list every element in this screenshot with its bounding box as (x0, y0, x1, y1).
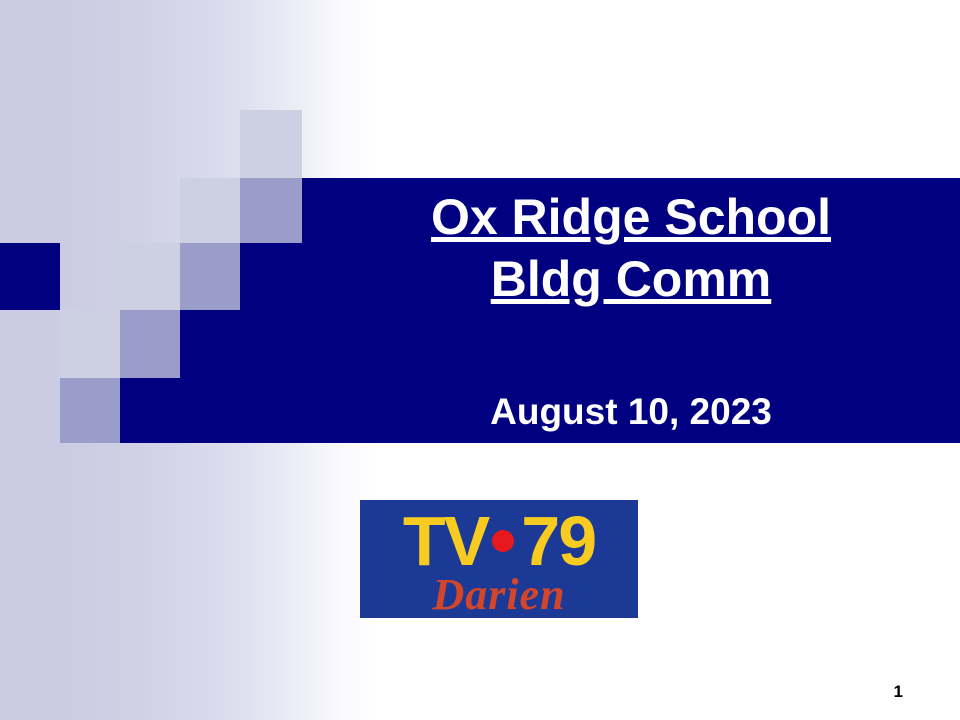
logo-top-row: TV 79 (360, 503, 638, 579)
mosaic-block-light-r4c1 (60, 310, 120, 378)
tv79-darien-logo: TV 79 Darien (360, 500, 638, 618)
logo-text-tv: TV (403, 506, 488, 576)
mosaic-block-mid-r2c2 (240, 178, 302, 243)
banner-segment-lower-mid (180, 310, 960, 378)
mosaic-block-light-r1c1 (240, 110, 302, 178)
title-line-1: Ox Ridge School (302, 186, 960, 248)
mosaic-block-light-r2c1 (180, 178, 240, 243)
slide-canvas: Ox Ridge School Bldg Comm August 10, 202… (0, 0, 960, 720)
logo-text-79: 79 (521, 506, 595, 576)
mosaic-block-navy-r3c0 (0, 243, 60, 310)
red-dot-icon (492, 530, 514, 552)
logo-text-town: Darien (360, 572, 638, 618)
mosaic-block-mid-r3c2 (180, 243, 240, 310)
mosaic-block-mid-r5c1 (60, 378, 120, 443)
page-number: 1 (894, 682, 903, 702)
slide-date: August 10, 2023 (302, 390, 960, 434)
slide-title: Ox Ridge School Bldg Comm (302, 186, 960, 310)
title-line-2: Bldg Comm (302, 248, 960, 310)
mosaic-block-mid-r4c2 (120, 310, 180, 378)
mosaic-block-light-r3c1 (120, 243, 180, 310)
